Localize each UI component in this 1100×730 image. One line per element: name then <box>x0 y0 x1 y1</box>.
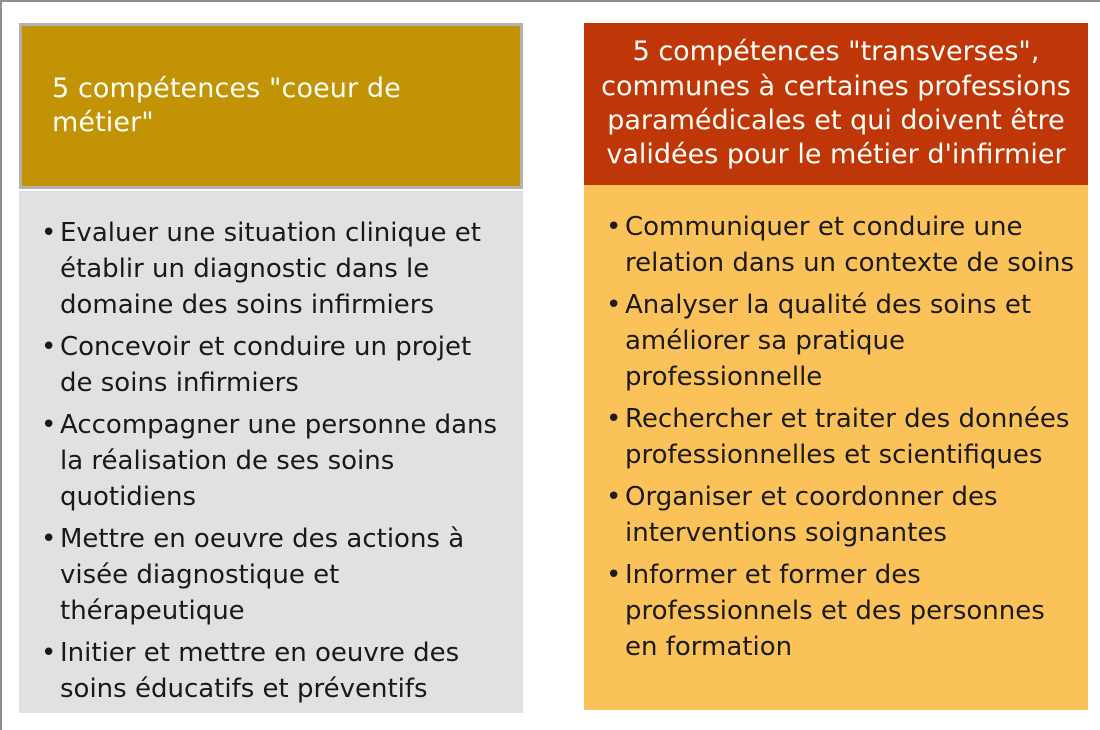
list-item-text: Organiser et coordonner des intervention… <box>625 482 998 548</box>
panel-coeur-de-metier-header: 5 compétences "coeur de métier" <box>19 23 523 189</box>
bullet-dot-icon: • <box>606 557 621 593</box>
competence-list-coeur-de-metier: • Evaluer une situation clinique et étab… <box>39 215 507 707</box>
list-item-text: Analyser la qualité des soins et amélior… <box>625 290 1031 392</box>
list-item: • Concevoir et conduire un projet de soi… <box>39 329 507 401</box>
panel-transverses-title: 5 compétences "transverses", communes à … <box>590 35 1082 172</box>
slide-canvas: 5 compétences "coeur de métier" • Evalue… <box>0 0 1100 730</box>
bullet-dot-icon: • <box>606 209 621 245</box>
panel-coeur-de-metier: 5 compétences "coeur de métier" • Evalue… <box>19 23 523 713</box>
list-item: • Evaluer une situation clinique et étab… <box>39 215 507 323</box>
bullet-dot-icon: • <box>41 635 56 671</box>
list-item: • Rechercher et traiter des données prof… <box>604 401 1076 473</box>
competence-list-transverses: • Communiquer et conduire une relation d… <box>604 209 1076 665</box>
list-item: • Mettre en oeuvre des actions à visée d… <box>39 521 507 629</box>
list-item: • Informer et former des professionnels … <box>604 557 1076 665</box>
bullet-dot-icon: • <box>606 287 621 323</box>
list-item: • Analyser la qualité des soins et améli… <box>604 287 1076 395</box>
list-item-text: Communiquer et conduire une relation dan… <box>625 212 1074 278</box>
list-item: • Initier et mettre en oeuvre des soins … <box>39 635 507 707</box>
list-item-text: Initier et mettre en oeuvre des soins éd… <box>60 638 459 704</box>
list-item-text: Informer et former des professionnels et… <box>625 560 1045 662</box>
list-item-text: Accompagner une personne dans la réalisa… <box>60 410 497 512</box>
panel-transverses-header: 5 compétences "transverses", communes à … <box>584 23 1088 185</box>
panel-transverses: 5 compétences "transverses", communes à … <box>584 23 1088 710</box>
panel-coeur-de-metier-body: • Evaluer une situation clinique et étab… <box>19 191 523 713</box>
list-item-text: Rechercher et traiter des données profes… <box>625 404 1069 470</box>
panel-coeur-de-metier-title: 5 compétences "coeur de métier" <box>52 72 508 140</box>
list-item: • Accompagner une personne dans la réali… <box>39 407 507 515</box>
list-item-text: Concevoir et conduire un projet de soins… <box>60 332 471 398</box>
bullet-dot-icon: • <box>606 479 621 515</box>
list-item: • Organiser et coordonner des interventi… <box>604 479 1076 551</box>
bullet-dot-icon: • <box>41 329 56 365</box>
bullet-dot-icon: • <box>41 407 56 443</box>
bullet-dot-icon: • <box>606 401 621 437</box>
list-item-text: Evaluer une situation clinique et établi… <box>60 218 481 320</box>
bullet-dot-icon: • <box>41 521 56 557</box>
list-item-text: Mettre en oeuvre des actions à visée dia… <box>60 524 464 626</box>
panel-transverses-body: • Communiquer et conduire une relation d… <box>584 185 1088 710</box>
bullet-dot-icon: • <box>41 215 56 251</box>
list-item: • Communiquer et conduire une relation d… <box>604 209 1076 281</box>
